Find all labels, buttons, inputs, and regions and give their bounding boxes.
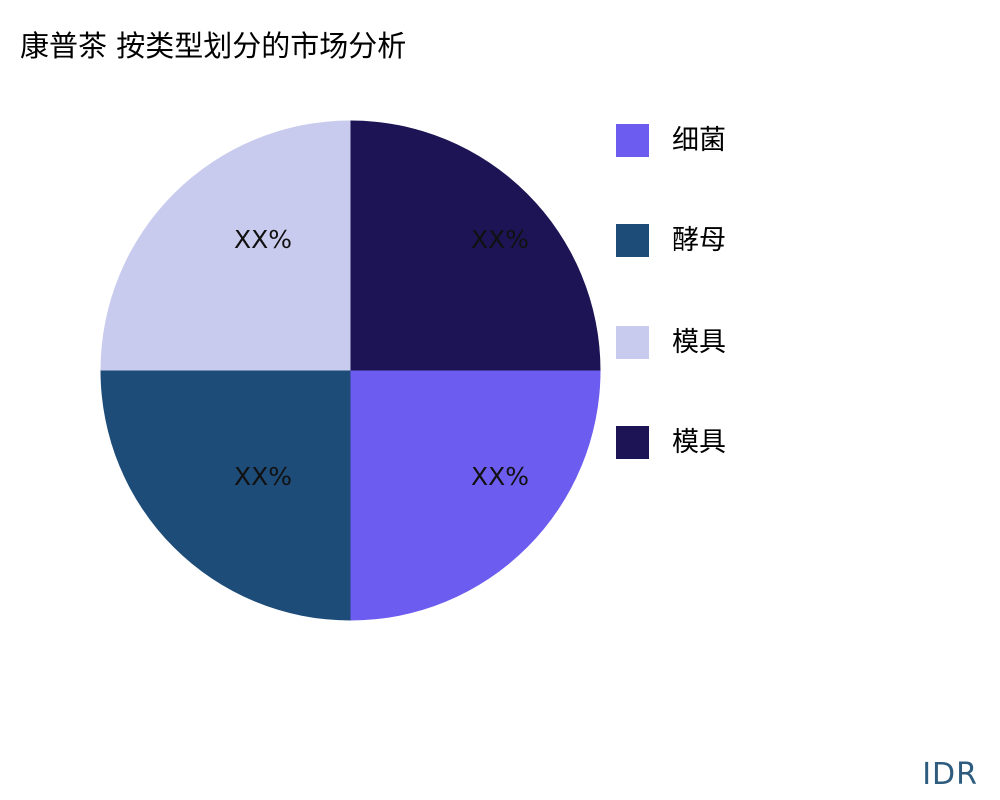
legend-swatch-icon-3 [616,426,649,459]
legend-label-3: 模具 [672,426,726,459]
pie-slice-bottom-left[interactable] [101,371,351,621]
legend-item-1[interactable]: 酵母 [616,218,726,262]
legend-item-0[interactable]: 细菌 [616,118,726,162]
pie-slice-bottom-right[interactable] [351,371,601,621]
legend-item-2[interactable]: 模具 [616,320,726,364]
legend-item-3[interactable]: 模具 [616,420,726,464]
chart-legend: 细菌 酵母 模具 模具 [616,110,946,470]
legend-label-2: 模具 [672,326,726,359]
watermark-logo: IDR [922,758,978,792]
page-title: 康普茶 按类型划分的市场分析 [20,27,406,65]
pie-slice-label-bottom-right: XX% [471,462,529,491]
chart-container: 康普茶 按类型划分的市场分析 XX% XX% XX% XX% 细菌 酵母 [0,0,1000,800]
pie-slice-top-left[interactable] [101,121,351,371]
legend-swatch-icon-2 [616,326,649,359]
pie-chart-svg: XX% XX% XX% XX% [100,120,601,621]
legend-swatch-icon-0 [616,124,649,157]
legend-swatch-icon-1 [616,224,649,257]
pie-slice-label-top-left: XX% [234,225,292,254]
pie-slice-label-bottom-left: XX% [234,462,292,491]
legend-label-1: 酵母 [672,224,726,257]
legend-label-0: 细菌 [672,124,726,157]
pie-slice-label-top-right: XX% [471,225,529,254]
pie-chart: XX% XX% XX% XX% [100,120,601,621]
